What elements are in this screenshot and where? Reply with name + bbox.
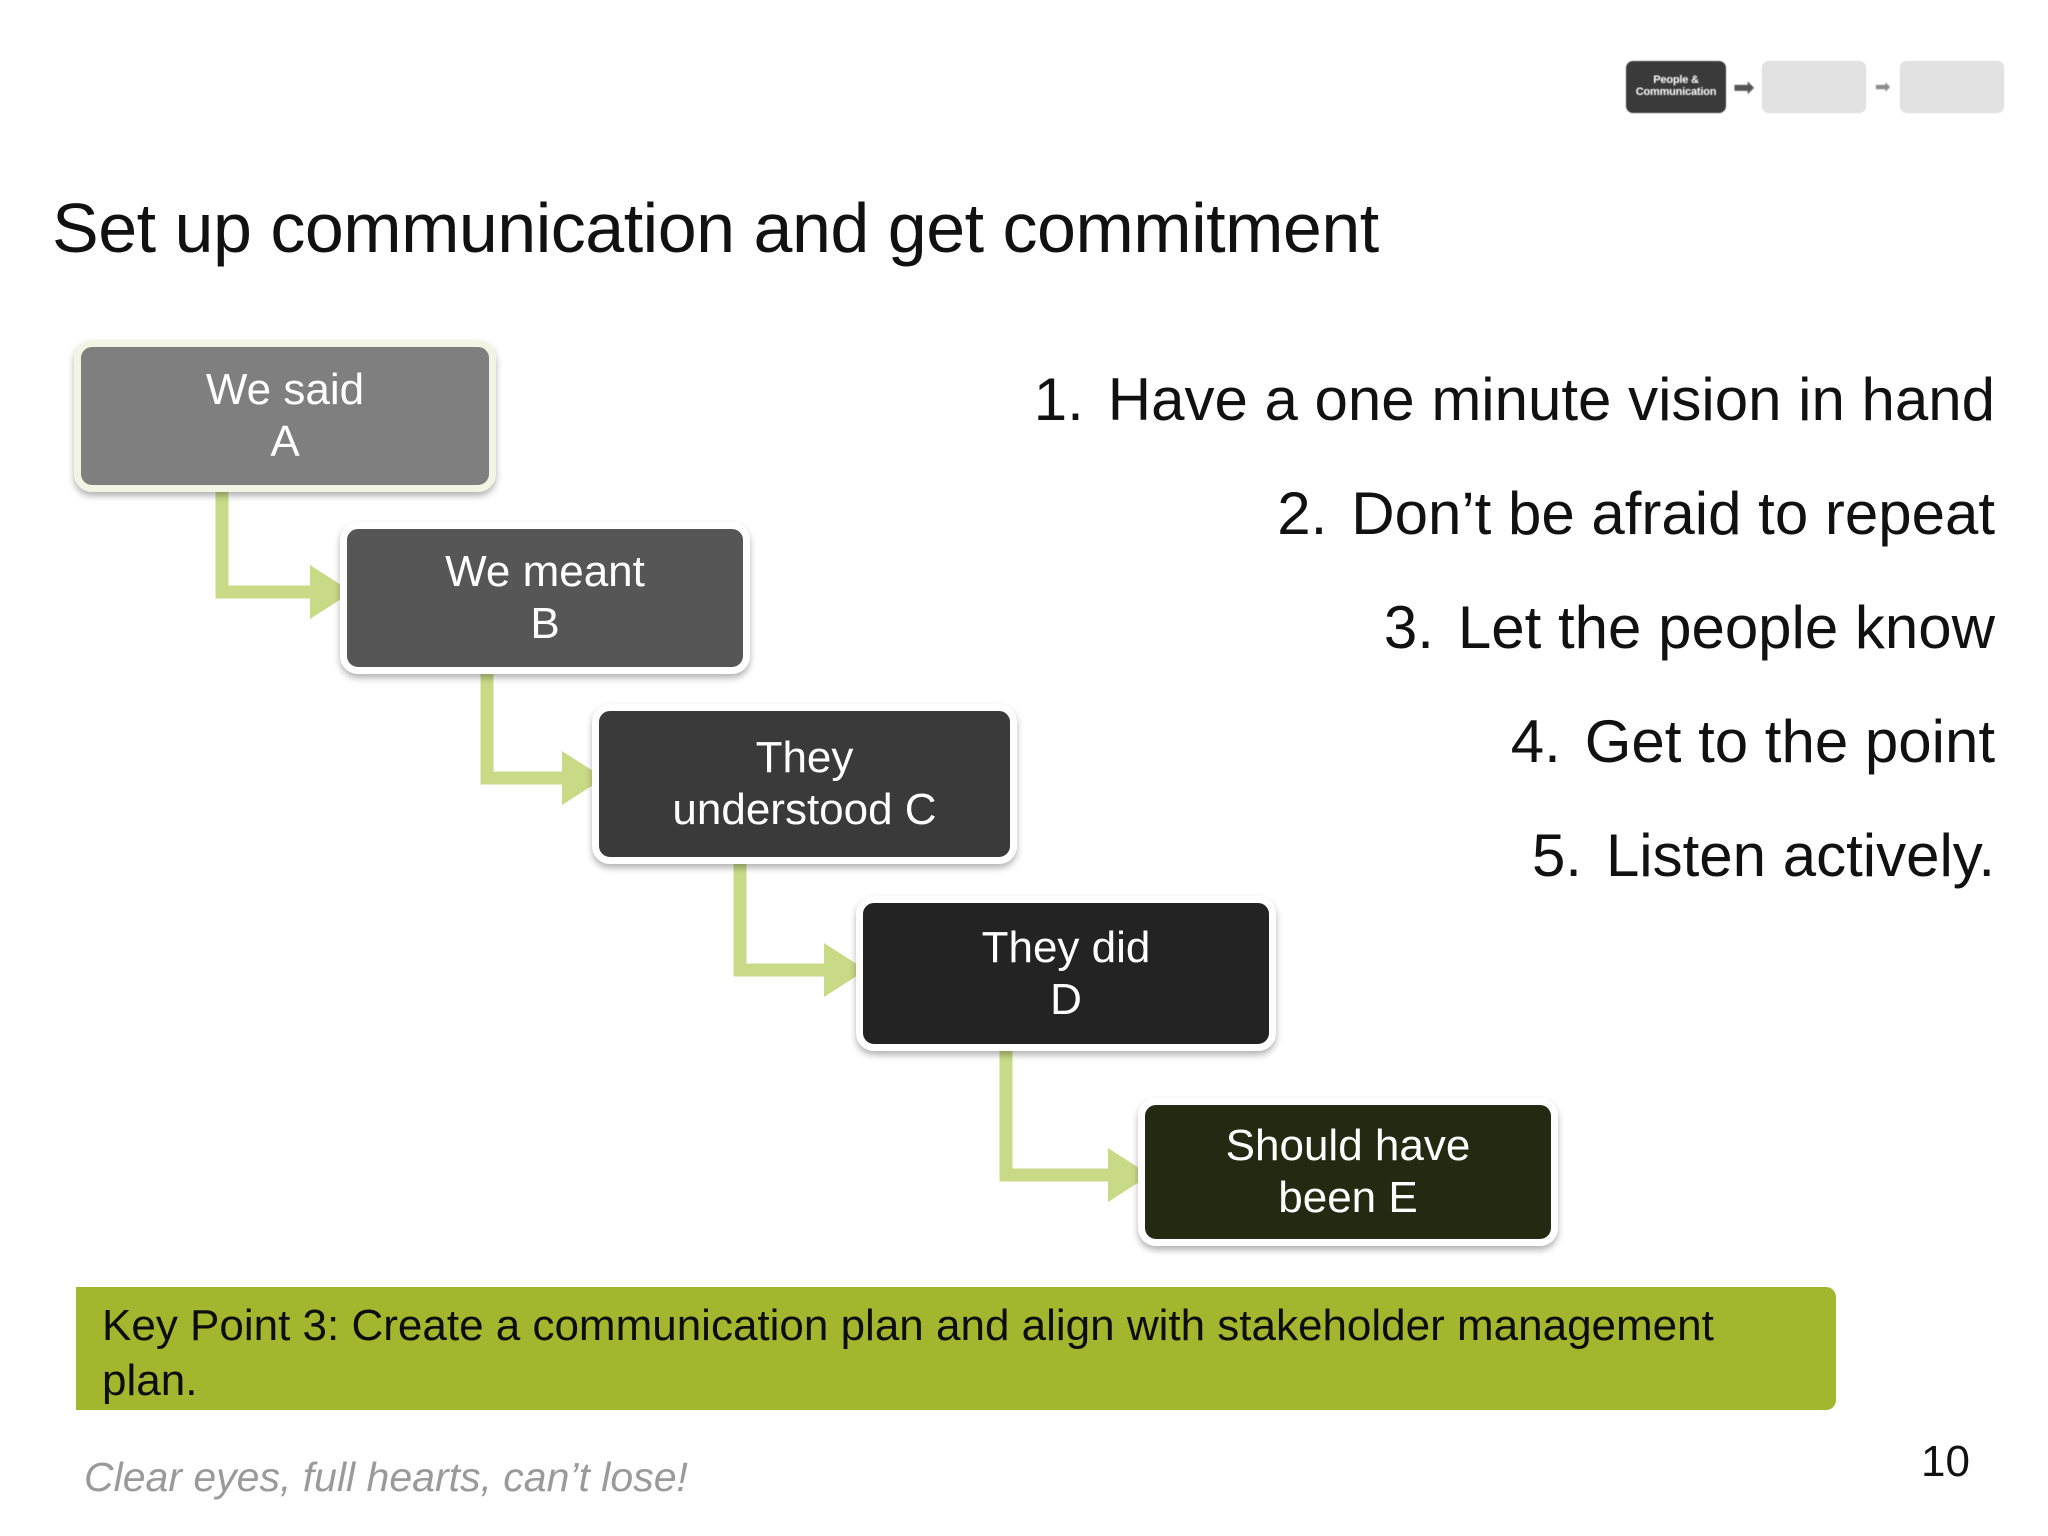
list-item-number: 5. [1532,826,1606,886]
flow-node-line1: We meant [445,547,645,596]
flow-node-we-meant-b[interactable]: We meant B [340,522,750,674]
list-item-number: 4. [1511,712,1585,772]
flow-node-we-said-a[interactable]: We said A [74,340,496,492]
flow-node-line2: B [530,599,559,648]
flow-node-text: Should have been E [1226,1120,1471,1224]
breadcrumb-item-people-communication[interactable]: People & Communication [1626,61,1726,113]
connector-c-to-d [740,864,830,970]
flow-node-line1: Should have [1226,1121,1471,1170]
flow-node-line2: been E [1278,1173,1417,1222]
list-item: 1.Have a one minute vision in hand [820,370,1995,430]
footer-note: Clear eyes, full hearts, can’t lose! [84,1454,688,1501]
list-item-label: Listen actively. [1606,822,1995,889]
breadcrumb-item-2[interactable] [1762,61,1866,113]
slide-canvas: People & Communication ➡ ➡ Set up commun… [0,0,2048,1536]
flow-node-line1: We said [206,365,364,414]
connector-b-to-c [487,674,568,778]
flow-node-line2: D [1050,975,1082,1024]
page-number: 10 [1921,1437,1970,1487]
list-item: 5.Listen actively. [820,826,1995,886]
connector-a-to-b [222,492,316,592]
flow-node-text: We said A [206,364,364,468]
list-item-number: 3. [1384,598,1458,658]
flow-node-text: We meant B [445,546,645,650]
page-title: Set up communication and get commitment [52,188,1379,268]
tips-list: 1.Have a one minute vision in hand 2.Don… [820,370,1995,940]
connector-d-to-e [1006,1051,1114,1175]
list-item-label: Don’t be afraid to repeat [1351,480,1995,547]
breadcrumb-item-3[interactable] [1900,61,2004,113]
flow-node-should-have-been-e[interactable]: Should have been E [1138,1098,1558,1246]
list-item-label: Let the people know [1458,594,1995,661]
breadcrumb-arrow-icon-2: ➡ [1875,78,1891,97]
breadcrumb-item-label: People & Communication [1630,75,1722,98]
list-item: 4.Get to the point [820,712,1995,772]
flow-node-line2: A [270,417,299,466]
list-item-number: 2. [1277,484,1351,544]
breadcrumb-arrow-icon: ➡ [1733,74,1755,100]
header-breadcrumb: People & Communication ➡ ➡ [1626,56,2026,118]
list-item-number: 1. [1034,370,1108,430]
key-point-banner: Key Point 3: Create a communication plan… [76,1287,1836,1410]
list-item: 3.Let the people know [820,598,1995,658]
list-item-label: Get to the point [1585,708,1995,775]
list-item: 2.Don’t be afraid to repeat [820,484,1995,544]
list-item-label: Have a one minute vision in hand [1108,366,1995,433]
